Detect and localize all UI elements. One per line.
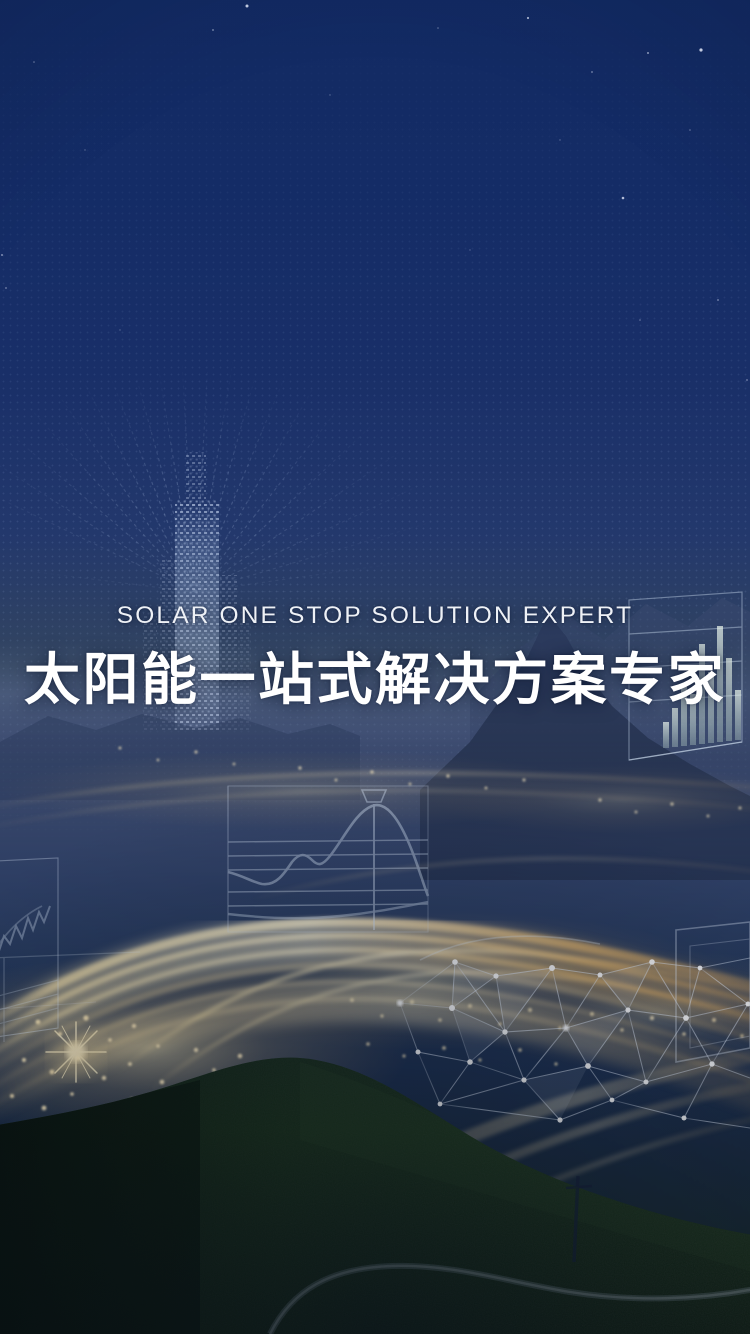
hero-subtitle: SOLAR ONE STOP SOLUTION EXPERT bbox=[0, 604, 750, 629]
light-flare-starburst-secondary bbox=[512, 1177, 556, 1221]
winding-road bbox=[270, 1266, 750, 1334]
network-mesh-nodes bbox=[397, 959, 750, 1122]
light-flare-starburst bbox=[46, 1022, 106, 1082]
hero-banner: SOLAR ONE STOP SOLUTION EXPERT 太阳能一站式解决方… bbox=[0, 0, 750, 1334]
hero-text-block: SOLAR ONE STOP SOLUTION EXPERT 太阳能一站式解决方… bbox=[0, 604, 750, 709]
hero-headline: 太阳能一站式解决方案专家 bbox=[0, 651, 750, 710]
